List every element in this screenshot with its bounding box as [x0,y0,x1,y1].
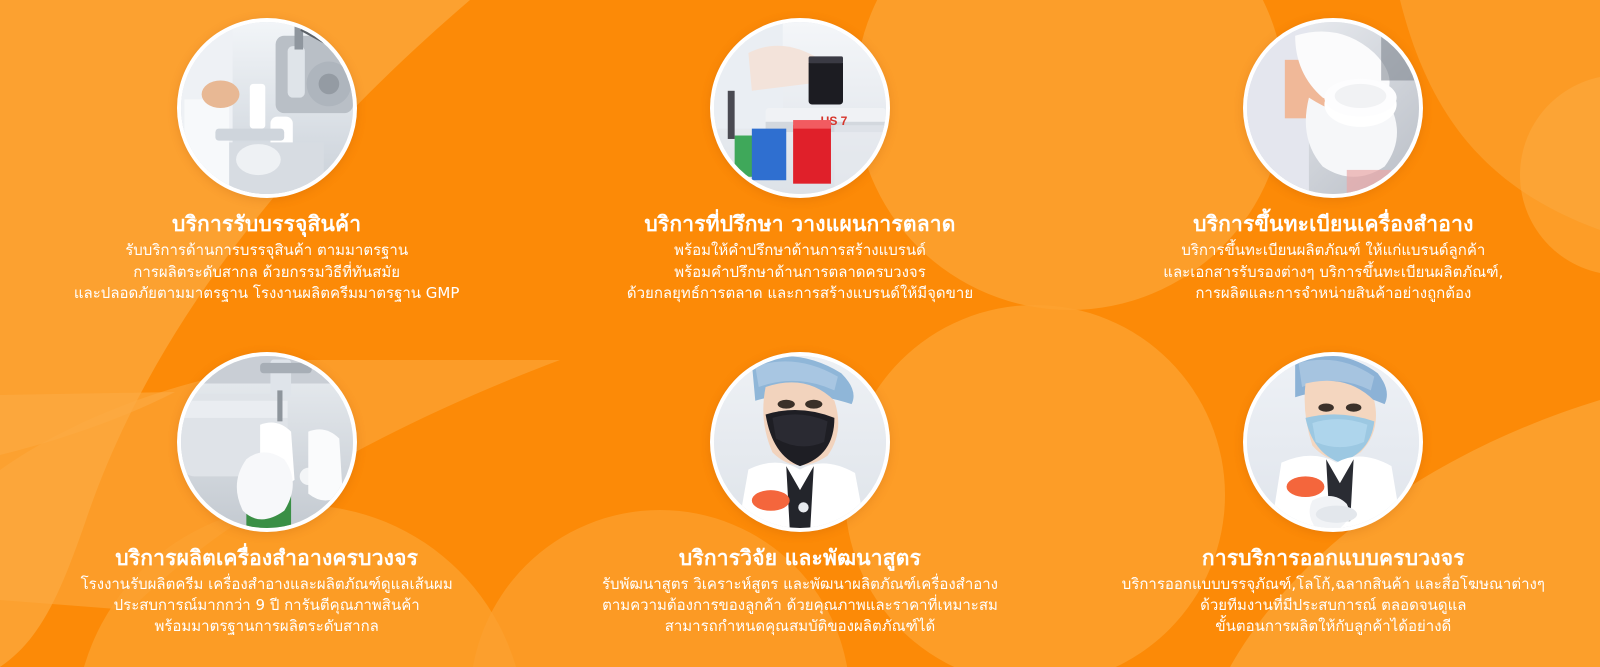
service-headline: บริการรับบรรจุสินค้า [172,211,361,237]
description-line: พร้อมคำปรึกษาด้านการตลาดครบวงจร [627,262,973,283]
description-line: พร้อมมาตรฐานการผลิตระดับสากล [81,616,453,637]
service-description: บริการขึ้นทะเบียนผลิตภัณฑ์ ให้แก่แบรนด์ล… [1163,240,1503,304]
bottle-filling-photo [181,356,353,528]
description-line: ตามความต้องการของลูกค้า ด้วยคุณภาพและราค… [602,595,998,616]
service-image-frame [177,352,357,532]
technician-blue-mask-photo [1247,356,1419,528]
service-headline: บริการที่ปรึกษา วางแผนการตลาด [644,211,955,237]
description-line: ด้วยกลยุทธ์การตลาด และการสร้างแบรนด์ให้ม… [627,283,973,304]
service-card-packaging[interactable]: บริการรับบรรจุสินค้า รับบริการด้านการบรร… [0,0,533,334]
description-line: และปลอดภัยตามมาตรฐาน โรงงานผลิตครีมมาตรฐ… [74,283,460,304]
gloved-hands-jar-photo [1247,22,1419,194]
description-line: บริการขึ้นทะเบียนผลิตภัณฑ์ ให้แก่แบรนด์ล… [1163,240,1503,261]
service-description: พร้อมให้คำปรึกษาด้านการสร้างแบรนด์ พร้อม… [627,240,973,304]
service-image-frame [1243,352,1423,532]
description-line: การผลิตและการจำหน่ายสินค้าอย่างถูกต้อง [1163,283,1503,304]
description-line: พร้อมให้คำปรึกษาด้านการสร้างแบรนด์ [627,240,973,261]
description-line: สามารถกำหนดคุณสมบัติของผลิตภัณฑ์ได้ [602,616,998,637]
service-headline: บริการวิจัย และพัฒนาสูตร [679,545,921,571]
description-line: ประสบการณ์มากกว่า 9 ปี การันตีคุณภาพสินค… [81,595,453,616]
service-headline: บริการขึ้นทะเบียนเครื่องสำอาง [1193,211,1473,237]
description-line: การผลิตระดับสากล ด้วยกรรมวิธีที่ทันสมัย [74,262,460,283]
service-image-frame [710,352,890,532]
service-description: บริการออกแบบบรรจุภัณฑ์,โลโก้,ฉลากสินค้า … [1122,574,1545,638]
services-grid: บริการรับบรรจุสินค้า รับบริการด้านการบรร… [0,0,1600,667]
description-line: รับบริการด้านการบรรจุสินค้า ตามมาตรฐาน [74,240,460,261]
description-line: ด้วยทีมงานที่มีประสบการณ์ ตลอดจนดูแล [1122,595,1545,616]
lab-beakers-photo: US 7 [714,22,886,194]
service-card-registration[interactable]: บริการขึ้นทะเบียนเครื่องสำอาง บริการขึ้น… [1067,0,1600,334]
service-headline: บริการผลิตเครื่องสำอางครบวงจร [115,545,418,571]
filling-machine-photo [181,22,353,194]
service-image-frame [1243,18,1423,198]
service-card-consulting[interactable]: US 7 บริการที่ปรึกษา วางแผนการตลาด พร้อม… [533,0,1066,334]
description-line: โรงงานรับผลิตครีม เครื่องสำอางและผลิตภัณ… [81,574,453,595]
service-description: โรงงานรับผลิตครีม เครื่องสำอางและผลิตภัณ… [81,574,453,638]
service-card-design[interactable]: การบริการออกแบบครบวงจร บริการออกแบบบรรจุ… [1067,334,1600,667]
service-headline: การบริการออกแบบครบวงจร [1202,545,1465,571]
service-card-manufacturing[interactable]: บริการผลิตเครื่องสำอางครบวงจร โรงงานรับผ… [0,334,533,667]
service-image-frame [177,18,357,198]
service-card-research[interactable]: บริการวิจัย และพัฒนาสูตร รับพัฒนาสูตร วิ… [533,334,1066,667]
description-line: บริการออกแบบบรรจุภัณฑ์,โลโก้,ฉลากสินค้า … [1122,574,1545,595]
description-line: และเอกสารรับรองต่างๆ บริการขึ้นทะเบียนผล… [1163,262,1503,283]
service-image-frame: US 7 [710,18,890,198]
technician-black-mask-photo [714,356,886,528]
service-description: รับบริการด้านการบรรจุสินค้า ตามมาตรฐาน ก… [74,240,460,304]
service-description: รับพัฒนาสูตร วิเคราะห์สูตร และพัฒนาผลิตภ… [602,574,998,638]
description-line: ขั้นตอนการผลิตให้กับลูกค้าได้อย่างดี [1122,616,1545,637]
description-line: รับพัฒนาสูตร วิเคราะห์สูตร และพัฒนาผลิตภ… [602,574,998,595]
